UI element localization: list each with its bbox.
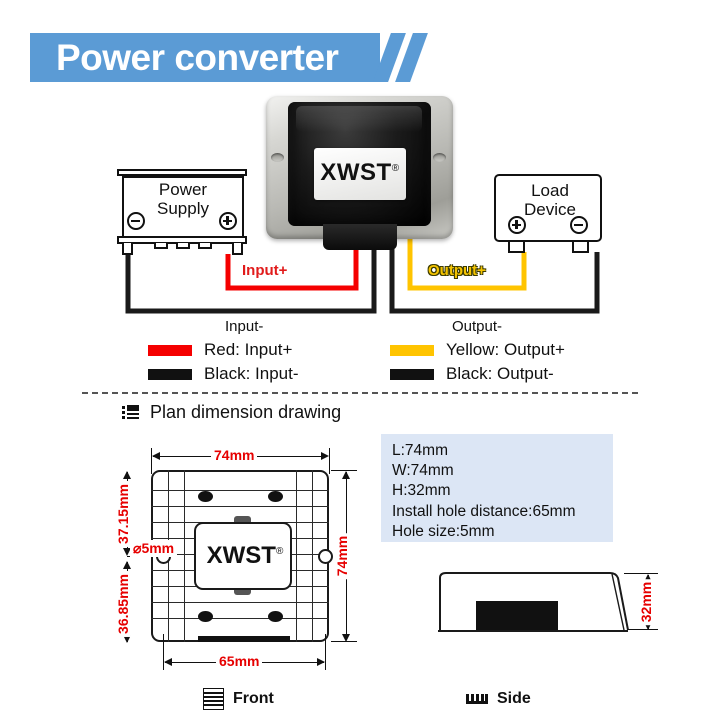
side-view-drawing: 32mm xyxy=(438,556,668,676)
module-mount-hole-icon xyxy=(433,153,446,162)
legend-label: Red: Input+ xyxy=(204,340,292,360)
spec-list: L:74mm W:74mm H:32mm Install hole distan… xyxy=(381,434,613,542)
front-caption-text: Front xyxy=(233,690,274,708)
spec-hole-size: Hole size:5mm xyxy=(392,522,613,542)
front-view-icon xyxy=(203,688,224,710)
load-label-line2: Device xyxy=(524,200,576,219)
load-device-box: Load Device xyxy=(494,174,602,242)
side-view-icon xyxy=(466,694,488,704)
front-bottom-bar xyxy=(198,636,290,642)
hole-size-value: 5mm xyxy=(141,540,174,556)
load-foot xyxy=(572,242,589,253)
load-label: Load Device xyxy=(496,181,604,219)
converter-module: XWST® xyxy=(266,96,453,251)
section-title: Plan dimension drawing xyxy=(150,402,341,423)
heatsink-fin xyxy=(151,490,329,491)
wiring-diagram: Power Supply XWST® Load xyxy=(0,96,720,346)
dim-right-height: 74mm xyxy=(334,533,350,579)
legend-item: Black: Input- xyxy=(148,364,299,384)
psu-leg xyxy=(122,243,133,255)
dim-hole-size: ⌀5mm xyxy=(130,540,177,557)
legend-swatch-yellow xyxy=(390,345,434,356)
load-foot xyxy=(508,242,525,253)
front-view-drawing: XWST® 74mm 74mm 37.15mm 36.85mm ⌀5mm xyxy=(106,438,386,676)
heatsink-fin xyxy=(151,506,329,507)
input-negative-wire-label: Input- xyxy=(225,318,263,335)
spec-width: W:74mm xyxy=(392,461,613,481)
mounting-hole-right xyxy=(318,549,333,564)
dim-arrow xyxy=(321,452,329,460)
module-mount-hole-icon xyxy=(271,153,284,162)
side-view-caption: Side xyxy=(466,690,531,708)
ext-line xyxy=(628,629,658,630)
mount-dot xyxy=(268,611,283,622)
ext-line xyxy=(325,634,326,670)
specifications-box: L:74mm W:74mm H:32mm Install hole distan… xyxy=(381,434,613,542)
side-connector-block xyxy=(476,601,558,630)
housing-rail xyxy=(296,470,297,642)
dim-bottom-width: 65mm xyxy=(216,653,262,669)
load-label-line1: Load xyxy=(531,181,569,200)
side-baseline xyxy=(438,630,628,632)
power-supply-box: Power Supply xyxy=(122,176,244,238)
dim-arrow xyxy=(317,658,325,666)
product-spec-sheet: Power converter Power Supply xyxy=(0,0,720,720)
module-brand-label: XWST® xyxy=(314,148,406,200)
dim-left-lower: 36.85mm xyxy=(115,571,131,637)
front-brand-text: XWST xyxy=(207,542,276,569)
ext-line xyxy=(624,573,658,574)
load-plus-terminal-icon xyxy=(508,216,526,234)
input-positive-wire-label: Input+ xyxy=(242,262,287,279)
spec-length: L:74mm xyxy=(392,441,613,461)
mount-dot xyxy=(198,491,213,502)
legend-label: Yellow: Output+ xyxy=(446,340,565,360)
legend-swatch-black xyxy=(148,369,192,380)
side-caption-text: Side xyxy=(497,690,531,708)
page-title: Power converter xyxy=(56,36,338,80)
front-brand-plate: XWST® xyxy=(194,522,292,590)
wire-color-legend: Red: Input+ Black: Input- Yellow: Output… xyxy=(0,340,720,386)
dim-top-width: 74mm xyxy=(211,447,257,463)
dim-arrow xyxy=(342,634,350,642)
dim-arrow xyxy=(342,471,350,479)
module-wire-boot xyxy=(323,224,397,250)
heatsink-fin xyxy=(151,618,329,619)
legend-swatch-red xyxy=(148,345,192,356)
dim-arrow xyxy=(123,561,131,569)
legend-label: Black: Input- xyxy=(204,364,299,384)
mount-dot xyxy=(198,611,213,622)
mount-dot xyxy=(268,491,283,502)
front-trademark: ® xyxy=(276,546,283,557)
dim-arrow xyxy=(123,471,131,479)
dim-arrow xyxy=(164,658,172,666)
housing-rail xyxy=(312,470,313,642)
legend-item: Yellow: Output+ xyxy=(390,340,565,360)
module-brand-text: XWST xyxy=(320,159,391,186)
psu-top-rail xyxy=(117,169,247,176)
psu-nub xyxy=(154,243,168,249)
plan-dimension-heading: Plan dimension drawing xyxy=(122,402,341,423)
dim-side-height: 32mm xyxy=(638,579,654,625)
psu-label-line1: Power xyxy=(159,180,207,199)
psu-label-line2: Supply xyxy=(157,199,209,218)
load-minus-terminal-icon xyxy=(570,216,588,234)
spec-hole-distance: Install hole distance:65mm xyxy=(392,502,613,522)
housing-rail xyxy=(184,470,185,642)
legend-item: Black: Output- xyxy=(390,364,554,384)
psu-minus-terminal-icon xyxy=(127,212,145,230)
grid-layout-icon xyxy=(122,405,139,420)
psu-plus-terminal-icon xyxy=(219,212,237,230)
output-positive-wire-label: Output+ xyxy=(428,262,486,279)
legend-label: Black: Output- xyxy=(446,364,554,384)
spec-height: H:32mm xyxy=(392,481,613,501)
legend-swatch-black xyxy=(390,369,434,380)
module-trademark: ® xyxy=(392,163,400,174)
front-view-caption: Front xyxy=(203,688,274,710)
section-divider xyxy=(82,392,638,394)
dim-left-upper: 37.15mm xyxy=(115,481,131,547)
header-banner: Power converter xyxy=(30,33,422,82)
dim-arrow xyxy=(152,452,160,460)
psu-nub xyxy=(176,243,190,249)
heatsink-fin xyxy=(151,602,329,603)
legend-item: Red: Input+ xyxy=(148,340,292,360)
psu-leg xyxy=(232,243,243,255)
output-negative-wire-label: Output- xyxy=(452,318,502,335)
psu-nub xyxy=(198,243,212,249)
